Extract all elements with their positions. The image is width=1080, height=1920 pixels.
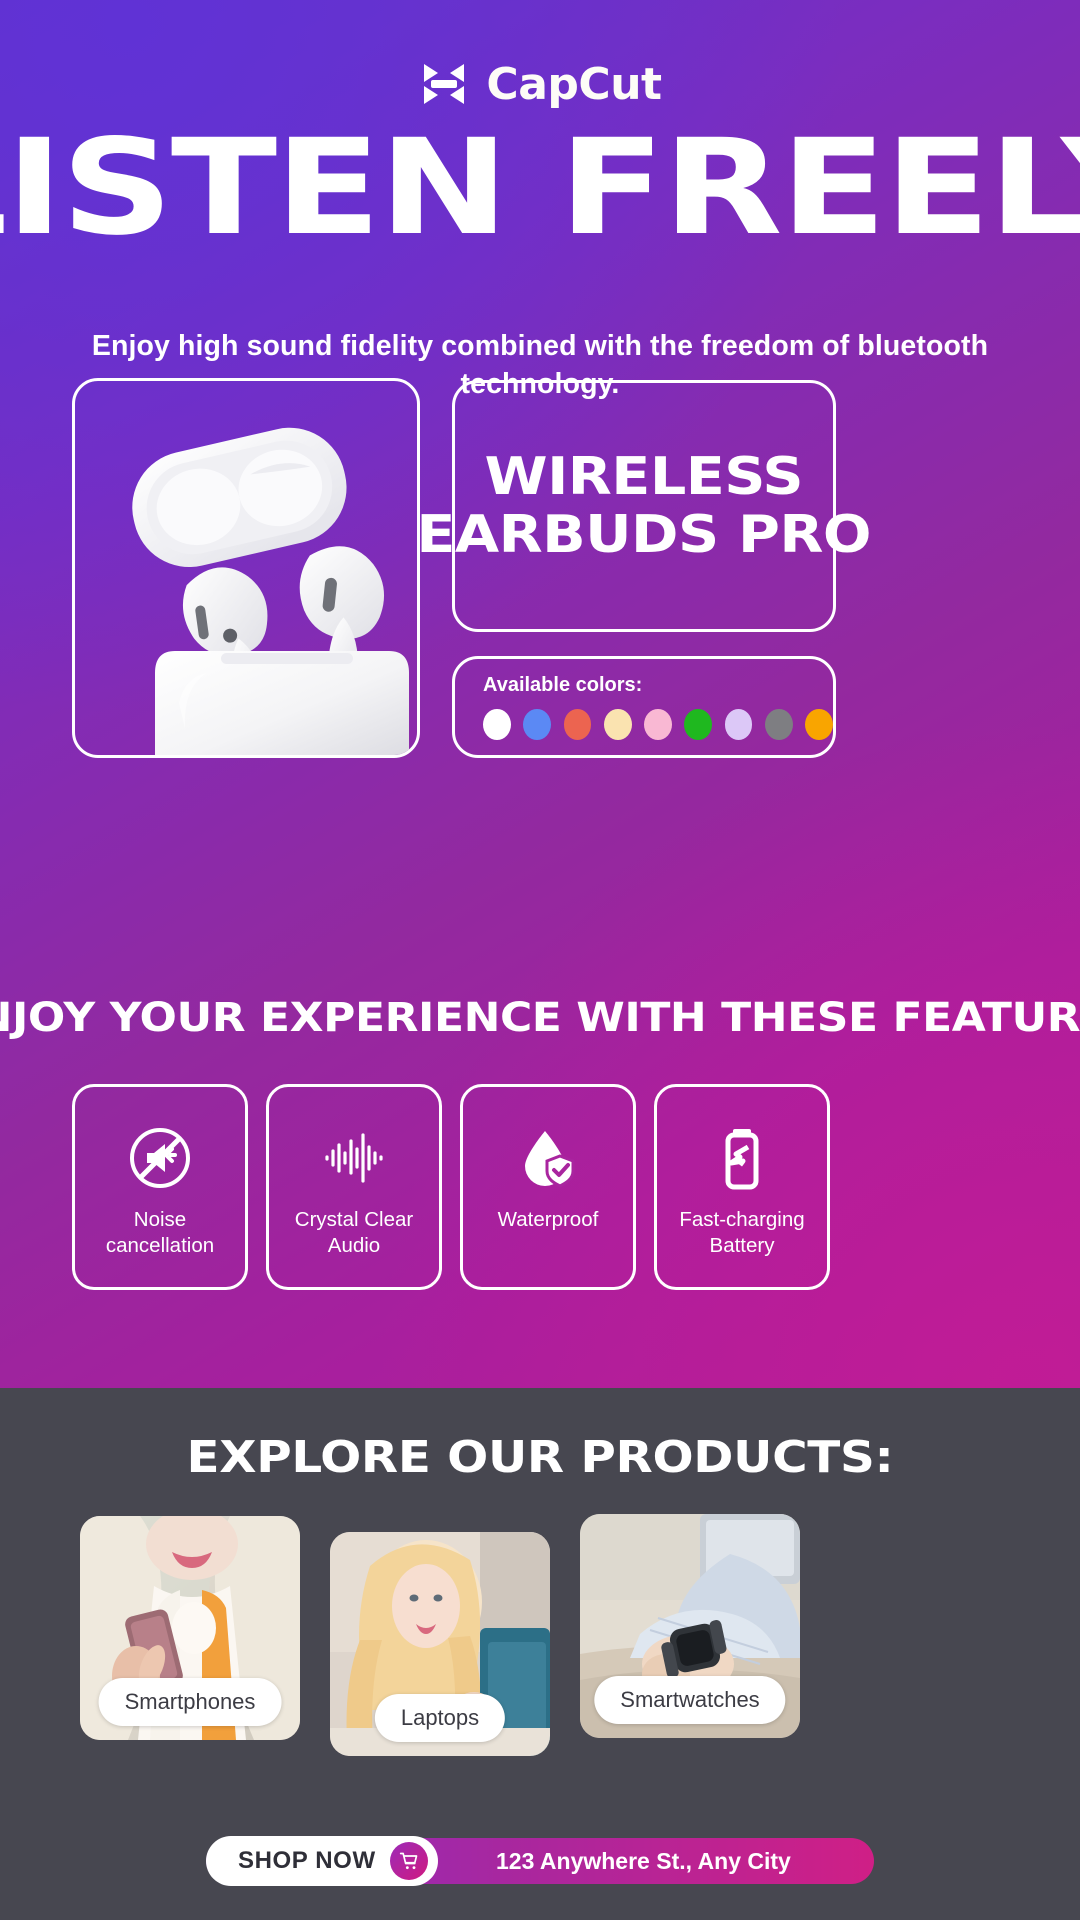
store-address: 123 Anywhere St., Any City: [496, 1848, 791, 1875]
product-card-laptops[interactable]: Laptops: [330, 1532, 550, 1756]
promo-poster: CapCut LISTEN FREELY Enjoy high sound fi…: [0, 0, 1080, 1920]
feature-card-fast-charging-battery[interactable]: Fast-charging Battery: [654, 1084, 830, 1290]
shopping-cart-icon[interactable]: [390, 1842, 428, 1880]
product-name-line-2: EARBUDS PRO: [417, 506, 872, 564]
feature-card-waterproof[interactable]: Waterproof: [460, 1084, 636, 1290]
color-swatch-blue[interactable]: [523, 709, 551, 740]
hero-headline: LISTEN FREELY: [0, 126, 1080, 251]
color-swatch-lilac[interactable]: [725, 709, 753, 740]
color-swatch-list: [483, 709, 833, 740]
noise-cancellation-icon: [127, 1125, 193, 1207]
product-pill-label[interactable]: Smartwatches: [594, 1676, 785, 1724]
shop-now-button[interactable]: SHOP NOW: [206, 1836, 438, 1886]
product-image-card: [72, 378, 420, 758]
available-colors-label: Available colors:: [483, 674, 833, 697]
battery-charging-icon: [709, 1125, 775, 1207]
available-colors-card: Available colors:: [452, 656, 836, 758]
color-swatch-gray[interactable]: [765, 709, 793, 740]
product-pill-label[interactable]: Smartphones: [99, 1678, 282, 1726]
product-pill-label[interactable]: Laptops: [375, 1694, 505, 1742]
feature-label: Crystal Clear Audio: [269, 1207, 439, 1259]
features-heading: ENJOY YOUR EXPERIENCE WITH THESE FEATURE…: [0, 995, 1080, 1041]
color-swatch-coral[interactable]: [564, 709, 592, 740]
feature-label: Waterproof: [490, 1207, 607, 1233]
capcut-logo-icon: [418, 58, 470, 110]
feature-label: Fast-charging Battery: [657, 1207, 827, 1259]
earbuds-illustration: [75, 381, 417, 755]
product-name-card: WIRELESS EARBUDS PRO: [452, 380, 836, 632]
product-card-smartwatches[interactable]: Smartwatches: [580, 1514, 800, 1738]
brand-logo: CapCut: [0, 58, 1080, 110]
color-swatch-pink[interactable]: [644, 709, 672, 740]
color-swatch-white[interactable]: [483, 709, 511, 740]
brand-name: CapCut: [486, 59, 661, 110]
feature-card-noise-cancellation[interactable]: Noise cancellation: [72, 1084, 248, 1290]
shop-now-bar[interactable]: SHOP NOW 123 Anywhere St., Any City: [206, 1838, 874, 1884]
audio-waveform-icon: [321, 1125, 387, 1207]
feature-label: Noise cancellation: [75, 1207, 245, 1259]
waterproof-droplet-shield-icon: [515, 1125, 581, 1207]
features-row: Noise cancellation: [72, 1084, 1008, 1290]
product-card-smartphones[interactable]: Smartphones: [80, 1516, 300, 1740]
shop-now-label: SHOP NOW: [238, 1847, 376, 1875]
color-swatch-cream[interactable]: [604, 709, 632, 740]
feature-card-crystal-clear-audio[interactable]: Crystal Clear Audio: [266, 1084, 442, 1290]
explore-heading: EXPLORE OUR PRODUCTS:: [0, 1432, 1080, 1483]
product-name-line-1: WIRELESS: [485, 448, 803, 506]
color-swatch-green[interactable]: [684, 709, 712, 740]
product-category-row: Smartphones Laptops: [80, 1516, 1000, 1756]
color-swatch-orange[interactable]: [805, 709, 833, 740]
